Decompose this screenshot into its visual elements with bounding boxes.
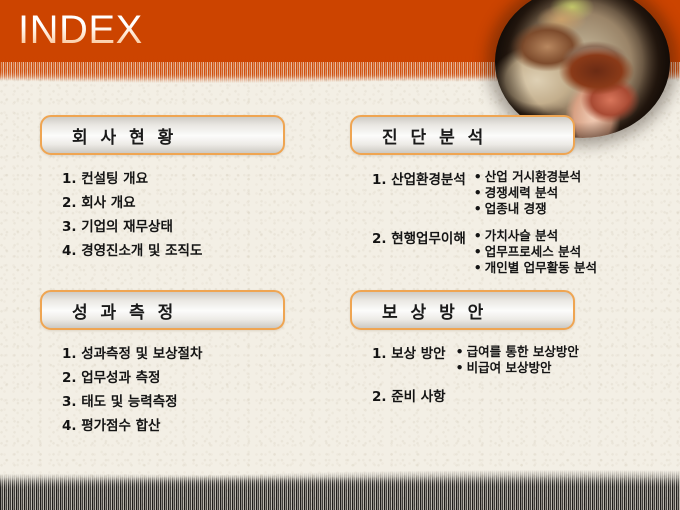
panel-header-title: 회 사 현 황 xyxy=(72,123,177,148)
sub-list-item[interactable]: •개인별 업무활동 분석 xyxy=(474,260,597,276)
sub-list-item-label: 업종내 경쟁 xyxy=(485,201,547,216)
panel-header-reward-plan[interactable]: 보 상 방 안 xyxy=(350,290,575,330)
list-item-label: 3. 태도 및 능력측정 xyxy=(62,392,178,414)
group-label: 1. 보상 방안 xyxy=(372,344,446,364)
list-item[interactable]: 1. 컨설팅 개요 xyxy=(62,169,285,191)
bullet-icon: • xyxy=(474,185,482,200)
panel-header-title: 진 단 분 석 xyxy=(382,123,487,148)
list-item-group[interactable]: 2. 현행업무이해 •가치사슬 분석 •업무프로세스 분석 •개인별 업무활동 … xyxy=(372,228,650,276)
list-item-label: 2. 업무성과 측정 xyxy=(62,368,160,390)
sub-item-list: •급여를 통한 보상방안 •비급여 보상방안 xyxy=(456,344,579,376)
panel-body-company-status: 1. 컨설팅 개요 2. 회사 개요 3. 기업의 재무상태 4. 경영진소개 … xyxy=(40,169,285,262)
presentation-slide: INDEX 회 사 현 황 1. 컨설팅 개요 2. 회사 개요 3. 기업의 … xyxy=(0,0,680,510)
panel-header-title: 보 상 방 안 xyxy=(382,298,487,323)
sub-list-item[interactable]: •경쟁세력 분석 xyxy=(474,185,581,201)
sub-list-item[interactable]: •가치사슬 분석 xyxy=(474,228,597,244)
list-item-label: 2. 회사 개요 xyxy=(62,193,136,215)
list-item-label: 4. 경영진소개 및 조직도 xyxy=(62,241,202,263)
sub-item-list: •산업 거시환경분석 •경쟁세력 분석 •업종내 경쟁 xyxy=(474,169,581,217)
sub-list-item[interactable]: •산업 거시환경분석 xyxy=(474,169,581,185)
list-item-group[interactable]: 2. 준비 사항 xyxy=(372,387,650,407)
sub-list-item-label: 개인별 업무활동 분석 xyxy=(485,260,597,275)
panel-header-title: 성 과 측 정 xyxy=(72,298,177,323)
sub-item-list: •가치사슬 분석 •업무프로세스 분석 •개인별 업무활동 분석 xyxy=(474,228,597,276)
bullet-icon: • xyxy=(474,169,482,184)
panel-diagnostic-analysis: 진 단 분 석 1. 산업환경분석 •산업 거시환경분석 •경쟁세력 분석 •업… xyxy=(350,115,650,287)
list-item[interactable]: 3. 태도 및 능력측정 xyxy=(62,392,285,414)
list-item-group[interactable]: 1. 보상 방안 •급여를 통한 보상방안 •비급여 보상방안 xyxy=(372,344,650,376)
sub-list-item[interactable]: •업무프로세스 분석 xyxy=(474,244,597,260)
bullet-icon: • xyxy=(474,201,482,216)
panel-body-diagnostic-analysis: 1. 산업환경분석 •산업 거시환경분석 •경쟁세력 분석 •업종내 경쟁 2.… xyxy=(350,169,650,276)
panel-reward-plan: 보 상 방 안 1. 보상 방안 •급여를 통한 보상방안 •비급여 보상방안 … xyxy=(350,290,650,418)
sub-list-item-label: 급여를 통한 보상방안 xyxy=(467,344,579,359)
sub-list-item-label: 경쟁세력 분석 xyxy=(485,185,558,200)
panel-company-status: 회 사 현 황 1. 컨설팅 개요 2. 회사 개요 3. 기업의 재무상태 4… xyxy=(40,115,285,264)
sub-list-item[interactable]: •급여를 통한 보상방안 xyxy=(456,344,579,360)
list-item-group[interactable]: 1. 산업환경분석 •산업 거시환경분석 •경쟁세력 분석 •업종내 경쟁 xyxy=(372,169,650,217)
group-label: 1. 산업환경분석 xyxy=(372,169,466,190)
sub-list-item[interactable]: •업종내 경쟁 xyxy=(474,201,581,217)
list-item[interactable]: 2. 회사 개요 xyxy=(62,193,285,215)
list-item-label: 3. 기업의 재무상태 xyxy=(62,217,173,239)
panel-performance-measurement: 성 과 측 정 1. 성과측정 및 보상절차 2. 업무성과 측정 3. 태도 … xyxy=(40,290,285,439)
footer-torn-edge xyxy=(0,464,680,510)
bullet-icon: • xyxy=(456,344,464,359)
sub-list-item-label: 가치사슬 분석 xyxy=(485,228,558,243)
panel-header-company-status[interactable]: 회 사 현 황 xyxy=(40,115,285,155)
panel-body-reward-plan: 1. 보상 방안 •급여를 통한 보상방안 •비급여 보상방안 2. 준비 사항 xyxy=(350,344,650,407)
sub-list-item[interactable]: •비급여 보상방안 xyxy=(456,360,579,376)
bullet-icon: • xyxy=(474,260,482,275)
group-label: 2. 현행업무이해 xyxy=(372,228,466,249)
sub-list-item-label: 업무프로세스 분석 xyxy=(485,244,581,259)
list-item[interactable]: 4. 평가점수 합산 xyxy=(62,416,285,438)
list-item[interactable]: 4. 경영진소개 및 조직도 xyxy=(62,241,285,263)
slide-title: INDEX xyxy=(18,8,143,53)
list-item-label: 1. 컨설팅 개요 xyxy=(62,169,148,191)
bullet-icon: • xyxy=(474,244,482,259)
panel-body-performance-measurement: 1. 성과측정 및 보상절차 2. 업무성과 측정 3. 태도 및 능력측정 4… xyxy=(40,344,285,437)
list-item-label: 4. 평가점수 합산 xyxy=(62,416,160,438)
group-label: 2. 준비 사항 xyxy=(372,387,446,407)
panel-header-performance-measurement[interactable]: 성 과 측 정 xyxy=(40,290,285,330)
bullet-icon: • xyxy=(456,360,464,375)
sub-list-item-label: 비급여 보상방안 xyxy=(467,360,552,375)
list-item[interactable]: 1. 성과측정 및 보상절차 xyxy=(62,344,285,366)
list-item[interactable]: 3. 기업의 재무상태 xyxy=(62,217,285,239)
list-item-label: 1. 성과측정 및 보상절차 xyxy=(62,344,202,366)
list-item[interactable]: 2. 업무성과 측정 xyxy=(62,368,285,390)
bullet-icon: • xyxy=(474,228,482,243)
sub-list-item-label: 산업 거시환경분석 xyxy=(485,169,581,184)
panel-header-diagnostic-analysis[interactable]: 진 단 분 석 xyxy=(350,115,575,155)
